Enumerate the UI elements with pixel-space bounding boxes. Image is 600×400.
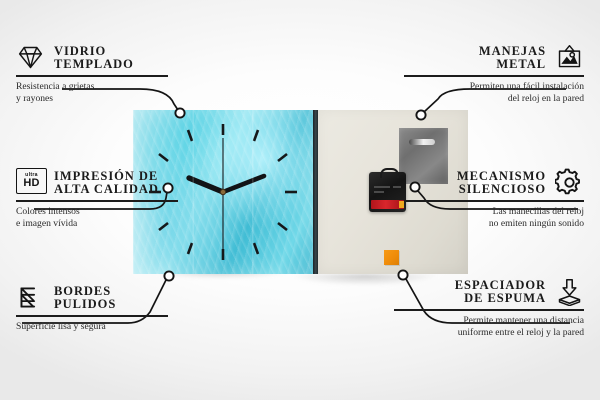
clock-movement-mechanism xyxy=(369,172,406,212)
title-line: MECANISMO xyxy=(457,170,546,183)
title-line: VIDRIO xyxy=(54,45,134,58)
title-line: TEMPLADO xyxy=(54,58,134,71)
desc-line: y rayones xyxy=(16,93,176,106)
movement-detail xyxy=(374,191,384,193)
feature-impresion-alta-calidad: ultra HD IMPRESIÓN DE ALTA CALIDAD Color… xyxy=(16,168,196,231)
desc-line: Colores intensos xyxy=(16,206,196,219)
feature-description: Las manecillas del reloj no emiten ningú… xyxy=(404,206,584,232)
title-line: MANEJAS xyxy=(479,45,546,58)
title-line: SILENCIOSO xyxy=(457,183,546,196)
polished-edges-icon xyxy=(16,283,45,312)
desc-line: Permite mantener una distancia xyxy=(394,315,584,328)
movement-hanging-loop xyxy=(380,168,399,178)
feature-description: Permiten una fácil instalación del reloj… xyxy=(404,81,584,107)
feature-title: IMPRESIÓN DE ALTA CALIDAD xyxy=(54,170,159,196)
desc-line: Superficie lisa y segura xyxy=(16,321,176,334)
feature-manejas-metal: MANEJAS METAL Permiten una fácil instala… xyxy=(404,43,584,106)
feature-bordes-pulidos: BORDES PULIDOS Superficie lisa y segura xyxy=(16,283,176,333)
desc-line: del reloj en la pared xyxy=(404,93,584,106)
title-underline xyxy=(16,315,168,317)
title-line: PULIDOS xyxy=(54,298,116,311)
feature-title: ESPACIADOR DE ESPUMA xyxy=(455,279,546,305)
title-line: DE ESPUMA xyxy=(455,292,546,305)
desc-line: Permiten una fácil instalación xyxy=(404,81,584,94)
title-line: ALTA CALIDAD xyxy=(54,183,159,196)
diamond-icon xyxy=(16,43,45,72)
feature-title: BORDES PULIDOS xyxy=(54,285,116,311)
desc-line: Resistencia a grietas xyxy=(16,81,176,94)
picture-frame-hanger-icon xyxy=(555,43,584,72)
feature-vidrio-templado: VIDRIO TEMPLADO Resistencia a grietas y … xyxy=(16,43,176,106)
title-line: ESPACIADOR xyxy=(455,279,546,292)
feature-title: MANEJAS METAL xyxy=(479,45,546,71)
movement-detail xyxy=(374,186,390,188)
feature-title: VIDRIO TEMPLADO xyxy=(54,45,134,71)
feature-description: Permite mantener una distancia uniforme … xyxy=(394,315,584,341)
title-line: METAL xyxy=(479,58,546,71)
desc-line: uniforme entre el reloj y la pared xyxy=(394,327,584,340)
title-underline xyxy=(394,309,584,311)
foam-spacer-icon xyxy=(555,277,584,306)
feature-title: MECANISMO SILENCIOSO xyxy=(457,170,546,196)
movement-detail xyxy=(393,186,401,188)
title-underline xyxy=(16,75,168,77)
hanger-slot xyxy=(409,139,435,145)
title-underline xyxy=(404,75,584,77)
feature-description: Superficie lisa y segura xyxy=(16,321,176,334)
hd-main-text: HD xyxy=(23,178,39,189)
desc-line: e imagen vívida xyxy=(16,218,196,231)
feature-espaciador-espuma: ESPACIADOR DE ESPUMA Permite mantener un… xyxy=(394,277,584,340)
foam-spacer-pad xyxy=(384,250,399,265)
feature-mecanismo-silencioso: MECANISMO SILENCIOSO Las manecillas del … xyxy=(404,168,584,231)
ultra-hd-icon: ultra HD xyxy=(16,168,45,197)
feature-description: Resistencia a grietas y rayones xyxy=(16,81,176,107)
desc-line: no emiten ningún sonido xyxy=(404,218,584,231)
gear-icon xyxy=(555,168,584,197)
title-line: IMPRESIÓN DE xyxy=(54,170,159,183)
infographic-canvas: VIDRIO TEMPLADO Resistencia a grietas y … xyxy=(0,0,600,400)
feature-description: Colores intensos e imagen vívida xyxy=(16,206,196,232)
desc-line: Las manecillas del reloj xyxy=(404,206,584,219)
title-underline xyxy=(404,200,584,202)
title-underline xyxy=(16,200,178,202)
title-line: BORDES xyxy=(54,285,116,298)
